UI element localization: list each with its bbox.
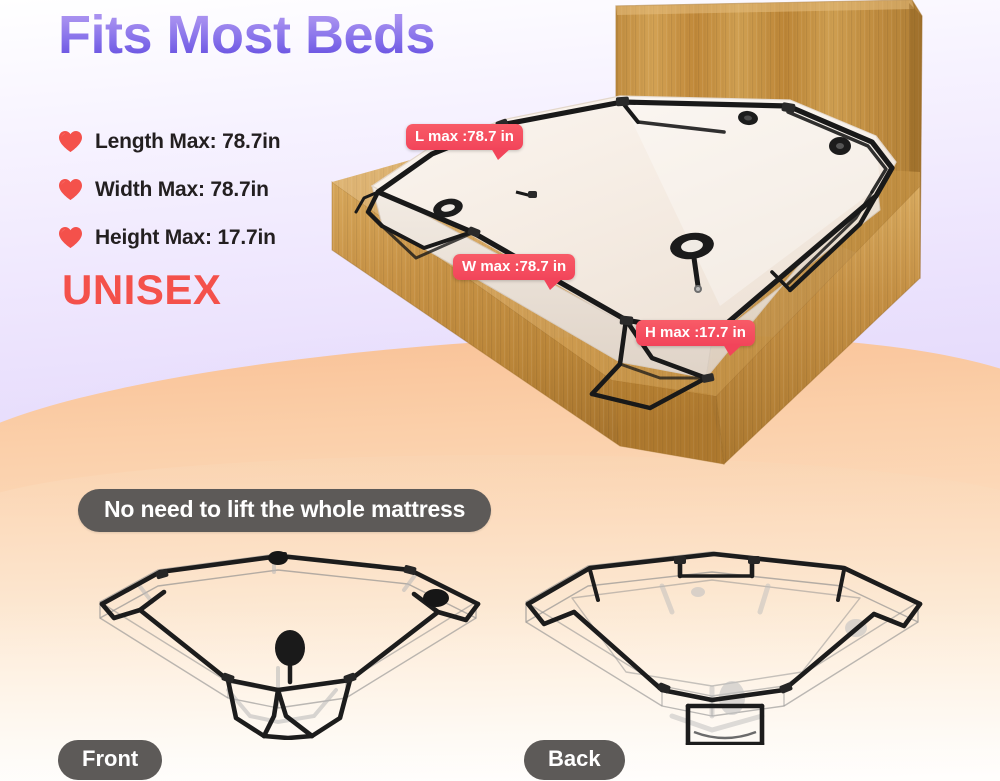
callout-length-label: L max :78.7 in: [415, 128, 514, 145]
callout-width-label: W max :78.7 in: [462, 258, 566, 275]
heart-icon: [58, 226, 83, 249]
back-diagram: [512, 540, 932, 745]
callout-height: H max :17.7 in: [636, 320, 755, 346]
front-diagram: [78, 540, 498, 740]
banner-no-lift: No need to lift the whole mattress: [78, 489, 491, 532]
callout-length: L max :78.7 in: [406, 124, 523, 150]
callout-tail: [723, 344, 743, 356]
front-label: Front: [58, 740, 162, 780]
list-item-label: Length Max: 78.7in: [95, 130, 280, 154]
back-label: Back: [524, 740, 625, 780]
bed-illustration: [320, 0, 1000, 491]
list-item-label: Width Max: 78.7in: [95, 178, 269, 202]
callout-height-label: H max :17.7 in: [645, 324, 746, 341]
heart-icon: [58, 130, 83, 153]
callout-width: W max :78.7 in: [453, 254, 575, 280]
heart-icon: [58, 178, 83, 201]
callout-tail: [491, 148, 511, 160]
infographic-canvas: Fits Most Beds Length Max: 78.7in Width …: [0, 0, 1000, 781]
unisex-label: UNISEX: [62, 266, 221, 314]
list-item-label: Height Max: 17.7in: [95, 226, 276, 250]
callout-tail: [543, 278, 563, 290]
